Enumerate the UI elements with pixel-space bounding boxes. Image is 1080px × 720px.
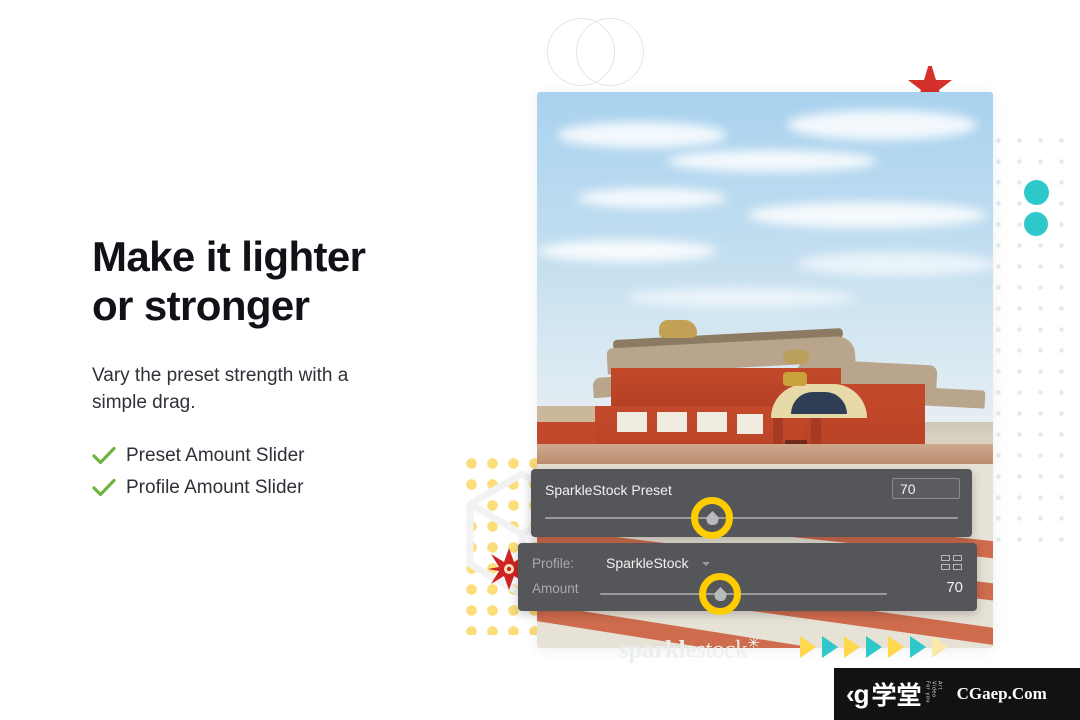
amount-slider-track[interactable] (600, 593, 887, 595)
plaza-curb (537, 444, 993, 466)
cg-logo-chinese: 学堂 (872, 676, 922, 712)
preset-amount-panel[interactable]: SparkleStock Preset 70 (531, 469, 972, 537)
subtitle: Vary the preset strength with a simple d… (92, 362, 422, 416)
list-item-label: Profile Amount Slider (126, 477, 303, 499)
cg-logo-vertical-text: Art Video For you (925, 681, 943, 707)
profile-amount-panel[interactable]: Profile: SparkleStock Amount 70 (518, 543, 977, 611)
check-icon (92, 478, 116, 498)
check-icon (92, 446, 116, 466)
overlapping-circles-icon (547, 18, 627, 86)
preset-label: SparkleStock Preset (545, 482, 672, 498)
cg-logo-domain: CGaep.Com (957, 684, 1047, 704)
list-item: Preset Amount Slider (92, 442, 304, 470)
gray-dot-grid (986, 128, 1074, 548)
copy-block: Make it lighter or stronger (92, 232, 472, 330)
amount-value: 70 (946, 579, 963, 596)
cg-logo-mark: ‹g (846, 681, 869, 707)
amount-label: Amount (532, 581, 579, 596)
teal-dot (1024, 212, 1048, 236)
teal-dot (1024, 180, 1049, 205)
preset-value-input[interactable]: 70 (892, 478, 960, 499)
profile-key-label: Profile: (532, 556, 574, 571)
profile-value[interactable]: SparkleStock (606, 555, 688, 571)
page-title: Make it lighter or stronger (92, 232, 472, 330)
list-item-label: Preset Amount Slider (126, 445, 304, 467)
amount-slider-highlight-ring (699, 573, 741, 615)
grid-view-icon[interactable] (941, 555, 963, 571)
cg-logo-badge: ‹g 学堂 Art Video For you CGaep.Com (834, 668, 1080, 720)
preset-slider-highlight-ring (691, 497, 733, 539)
feature-list: Preset Amount Slider Profile Amount Slid… (92, 442, 304, 506)
list-item: Profile Amount Slider (92, 474, 304, 502)
chevron-down-icon[interactable] (702, 562, 710, 566)
slide-canvas: SparkleStock Preset 70 Profile: SparkleS… (0, 0, 1080, 720)
preset-slider-track[interactable] (545, 517, 958, 519)
profile-row[interactable]: Profile: SparkleStock (532, 555, 952, 573)
